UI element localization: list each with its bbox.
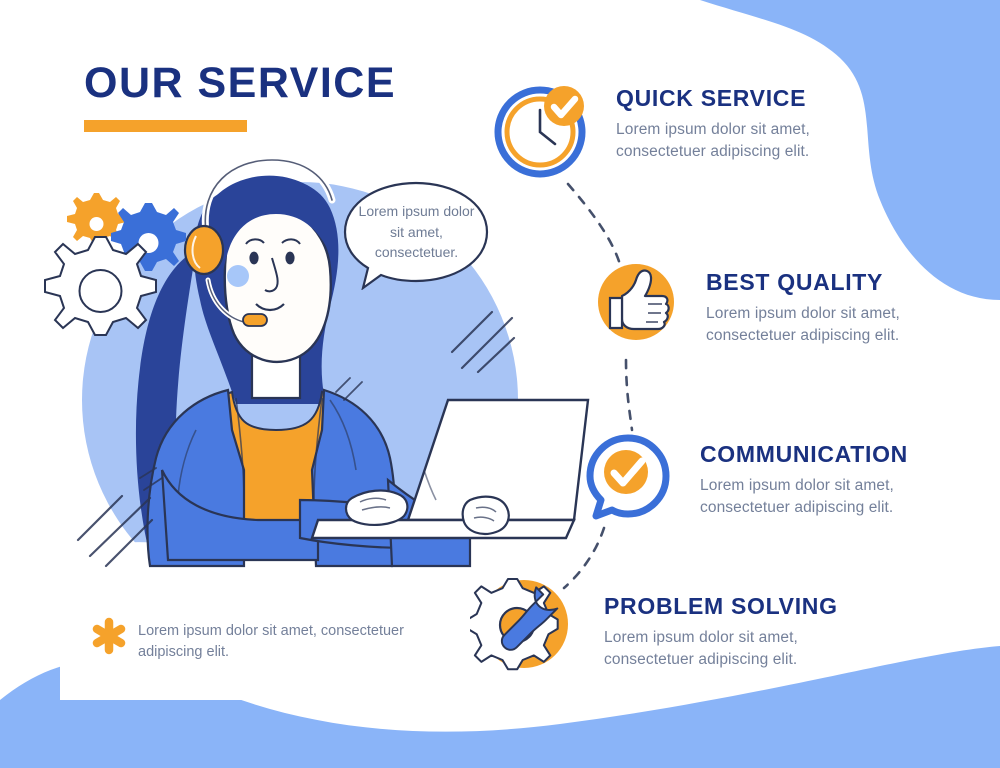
feature-title: QUICK SERVICE — [616, 86, 810, 110]
feature-item-communication[interactable]: COMMUNICATION Lorem ipsum dolor sit amet… — [582, 430, 908, 527]
infographic-canvas: OUR SERVICE Lorem ipsum dolor sit amet, … — [0, 0, 1000, 768]
feature-item-best-quality[interactable]: BEST QUALITY Lorem ipsum dolor sit amet,… — [592, 258, 900, 351]
title-accent-bar — [84, 120, 247, 132]
speech-bubble-check-icon — [582, 430, 674, 527]
feature-text-problem-solving: PROBLEM SOLVING Lorem ipsum dolor sit am… — [604, 570, 838, 671]
feature-title: PROBLEM SOLVING — [604, 594, 838, 618]
clock-check-icon — [492, 80, 592, 185]
speech-bubble-text: Lorem ipsum dolor sit amet, consectetuer… — [341, 180, 492, 284]
feature-item-quick-service[interactable]: QUICK SERVICE Lorem ipsum dolor sit amet… — [492, 80, 810, 185]
feature-text-communication: COMMUNICATION Lorem ipsum dolor sit amet… — [700, 430, 908, 519]
thumbs-up-icon — [592, 258, 680, 351]
title-block: OUR SERVICE — [84, 62, 396, 132]
feature-desc: Lorem ipsum dolor sit amet, consectetuer… — [700, 475, 908, 519]
feature-item-problem-solving[interactable]: PROBLEM SOLVING Lorem ipsum dolor sit am… — [470, 570, 838, 683]
feature-text-quick-service: QUICK SERVICE Lorem ipsum dolor sit amet… — [616, 80, 810, 163]
feature-desc: Lorem ipsum dolor sit amet, consectetuer… — [604, 627, 838, 671]
feature-title: COMMUNICATION — [700, 442, 908, 466]
footnote-text: Lorem ipsum dolor sit amet, consectetuer… — [138, 621, 404, 663]
footnote: Lorem ipsum dolor sit amet, consectetuer… — [92, 617, 462, 663]
page-title: OUR SERVICE — [84, 62, 396, 105]
feature-title: BEST QUALITY — [706, 270, 900, 294]
asterisk-icon — [92, 617, 126, 655]
feature-text-best-quality: BEST QUALITY Lorem ipsum dolor sit amet,… — [706, 258, 900, 347]
gear-wrench-icon — [470, 570, 578, 683]
speech-bubble: Lorem ipsum dolor sit amet, consectetuer… — [341, 180, 492, 290]
feature-desc: Lorem ipsum dolor sit amet, consectetuer… — [706, 303, 900, 347]
feature-desc: Lorem ipsum dolor sit amet, consectetuer… — [616, 119, 810, 163]
